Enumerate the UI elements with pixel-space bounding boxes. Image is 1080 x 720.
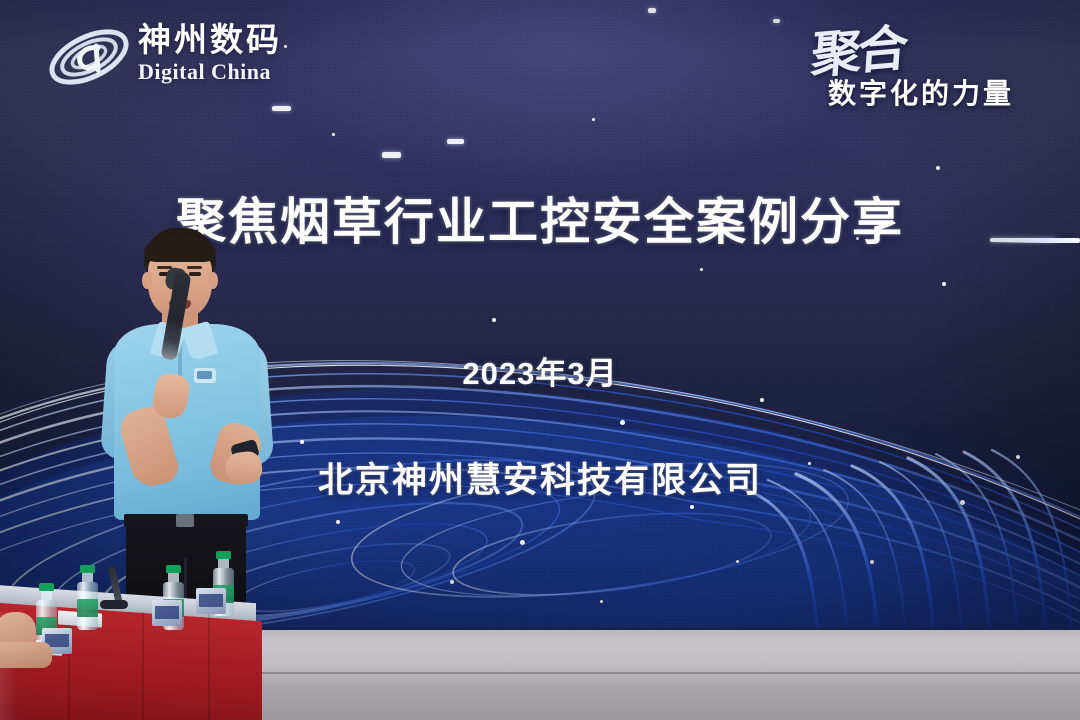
skirt-fold [142, 612, 144, 720]
name-card [152, 600, 182, 626]
name-card-band [199, 594, 223, 607]
bottle-cap [80, 565, 95, 573]
bottle-cap [39, 583, 54, 591]
logo-text-group: 神州数码 Digital China [138, 22, 282, 85]
logo-english-name: Digital China [138, 59, 282, 85]
bottle-cap [216, 551, 231, 559]
bottle-neck [82, 573, 93, 582]
seated-attendee-arm [0, 642, 52, 668]
bottle-neck [41, 591, 52, 600]
speaker-belt-buckle [176, 514, 194, 527]
skirt-fold [208, 612, 210, 720]
bottle-neck [168, 573, 179, 582]
speaker-fringe [144, 236, 216, 262]
water-bottle [77, 565, 98, 630]
digital-china-swirl-icon [46, 22, 132, 92]
digital-china-logo: 神州数码 Digital China [46, 18, 316, 96]
name-card-band [155, 606, 179, 619]
bottle-label [77, 599, 98, 617]
desk-microphone-base [100, 600, 128, 609]
event-slogan: 聚合 数字化的力量 [786, 12, 1056, 118]
slogan-subtitle: 数字化的力量 [828, 72, 1014, 112]
logo-chinese-name: 神州数码 [138, 22, 282, 58]
conference-photo: 神州数码 Digital China 聚合 数字化的力量 聚焦烟草行业工控安全案… [0, 0, 1080, 720]
speaker-chest-logo-inner [197, 371, 212, 379]
speaker-ear-left [142, 272, 152, 289]
bottle-neck [218, 559, 229, 568]
speaker-ear-right [208, 272, 218, 289]
speaker-eye-right [189, 272, 201, 276]
bottle-cap [166, 565, 181, 573]
name-card [196, 588, 226, 614]
speaker-eyebrow-right [187, 266, 202, 269]
title-accent-rule [994, 238, 1080, 243]
